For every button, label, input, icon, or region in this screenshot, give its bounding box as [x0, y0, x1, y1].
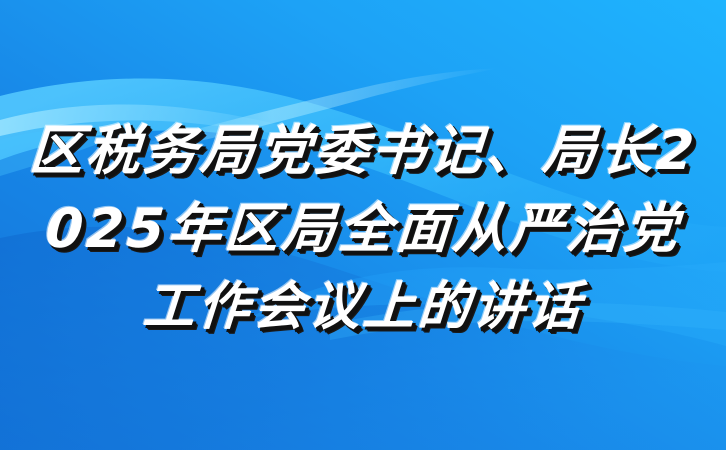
title-line-1: 区税务局党委书记、局长2 [7, 112, 718, 190]
title-banner: 区税务局党委书记、局长2 025年区局全面从严治党 工作会议上的讲话 [0, 0, 726, 450]
title-line-3: 工作会议上的讲话 [7, 268, 718, 346]
title-line-2: 025年区局全面从严治党 [7, 190, 718, 268]
page-title: 区税务局党委书记、局长2 025年区局全面从严治党 工作会议上的讲话 [0, 112, 726, 346]
